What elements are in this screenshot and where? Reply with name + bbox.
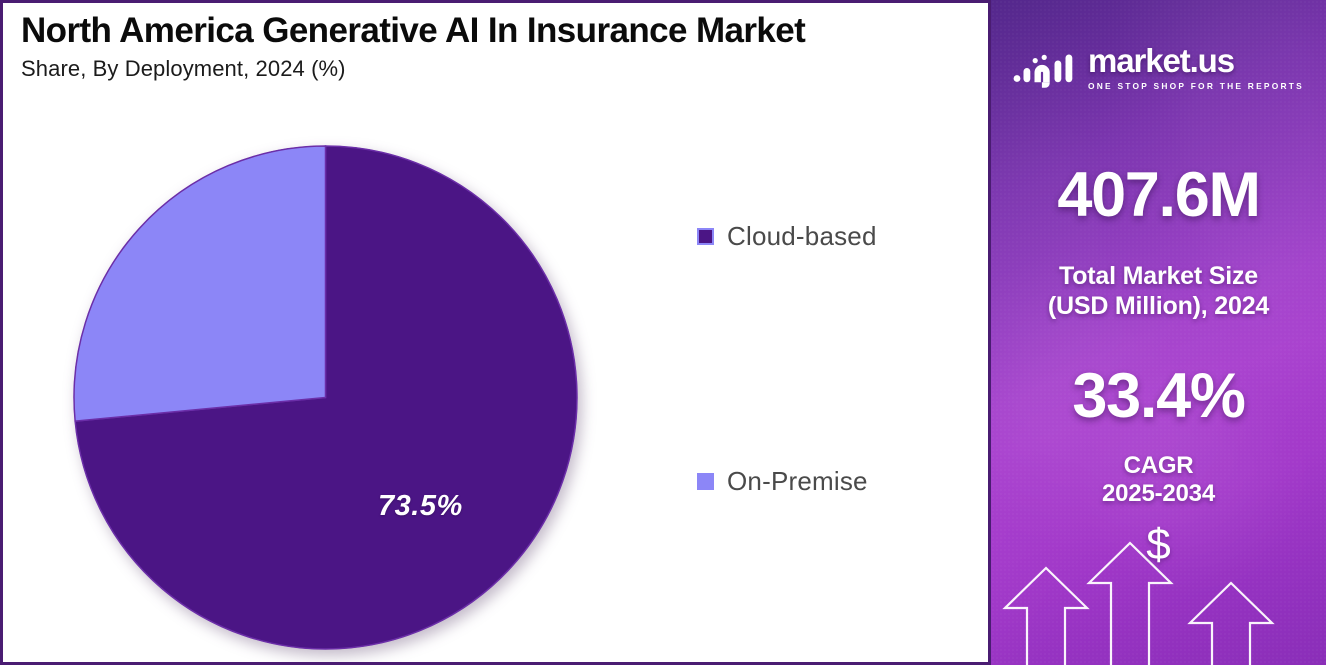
pie-slices (74, 146, 577, 649)
brand-logo[interactable]: market.us ONE STOP SHOP FOR THE REPORTS (991, 44, 1326, 91)
legend-item-label: On-Premise (727, 466, 868, 497)
up-arrow-icon (1190, 583, 1272, 665)
brand-content: market.us ONE STOP SHOP FOR THE REPORTS … (991, 0, 1326, 665)
brand-wordmark: market.us (1088, 44, 1304, 77)
title-block: North America Generative AI In Insurance… (21, 11, 976, 82)
market-us-logo-icon (1013, 48, 1077, 88)
stat-caption-line1: Total Market Size (991, 262, 1326, 292)
legend-item-on-premise[interactable]: On-Premise (697, 466, 868, 497)
legend-swatch-icon (697, 473, 714, 490)
page-title: North America Generative AI In Insurance… (21, 11, 976, 50)
legend-item-cloud-based[interactable]: Cloud-based (697, 221, 877, 252)
legend-item-label: Cloud-based (727, 221, 877, 252)
legend-swatch-icon (697, 228, 714, 245)
chart-panel: North America Generative AI In Insurance… (0, 0, 991, 665)
pie-svg (73, 145, 578, 650)
infographic-root: North America Generative AI In Insurance… (0, 0, 1326, 665)
brand-logo-text: market.us ONE STOP SHOP FOR THE REPORTS (1088, 44, 1304, 91)
dollar-sign-icon: $ (991, 523, 1326, 567)
stat-value-cagr: 33.4% (991, 365, 1326, 428)
up-arrow-icon (1005, 568, 1087, 665)
stat-caption-line2: (USD Million), 2024 (991, 292, 1326, 322)
pie-slice-label-cloud-based: 73.5% (378, 490, 463, 523)
legend: Cloud-based On-Premise (697, 153, 977, 623)
pie-slice-on-premise[interactable] (74, 146, 325, 421)
page-subtitle: Share, By Deployment, 2024 (%) (21, 56, 976, 82)
stat-caption-market-size: Total Market Size (USD Million), 2024 (991, 262, 1326, 321)
pie-chart: 73.5% (73, 145, 578, 650)
stat-caption-cagr: CAGR 2025-2034 (991, 452, 1326, 509)
brand-panel: market.us ONE STOP SHOP FOR THE REPORTS … (991, 0, 1326, 665)
stat-caption-line1: CAGR (991, 452, 1326, 480)
stat-value-market-size: 407.6M (991, 164, 1326, 227)
growth-arrows-decoration: $ (991, 505, 1326, 665)
brand-tagline: ONE STOP SHOP FOR THE REPORTS (1088, 81, 1304, 91)
